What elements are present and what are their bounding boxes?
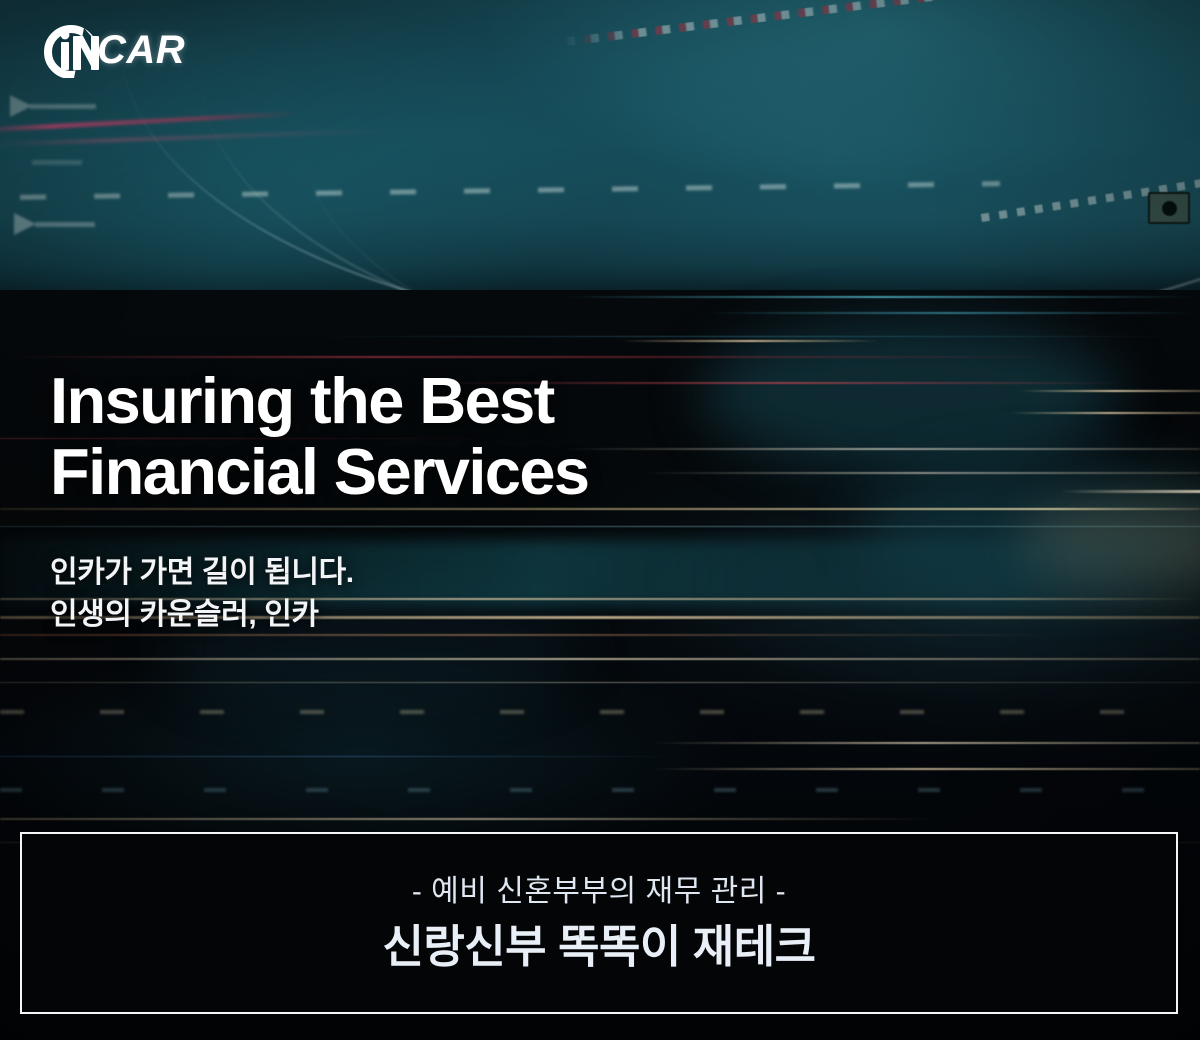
light-trail (0, 682, 1200, 683)
bottom-title-panel: - 예비 신혼부부의 재무 관리 - 신랑신부 똑똑이 재테크 (20, 832, 1178, 1014)
brand-logo[interactable]: CAR (44, 22, 185, 78)
light-trail (0, 818, 940, 820)
hero-title-line-2: Financial Services (50, 437, 880, 508)
light-trail (1010, 412, 1200, 414)
lane-dash-row (0, 710, 1200, 714)
lane-arrow-icon (14, 213, 36, 235)
poster-root: CAR Insuring the Best Financial Services… (0, 0, 1200, 1040)
light-trail (650, 768, 1200, 770)
lane-arrow-tail (30, 104, 96, 109)
hero-title-line-1: Insuring the Best (50, 366, 880, 437)
light-trail (1060, 490, 1200, 493)
light-trail (620, 340, 880, 342)
light-trail (650, 742, 1200, 744)
panel-eyebrow: - 예비 신혼부부의 재무 관리 - (412, 875, 786, 908)
lane-dash-row (0, 788, 1200, 792)
brand-logo-text: CAR (97, 30, 185, 70)
hero-title: Insuring the Best Financial Services (50, 366, 880, 508)
light-trail (0, 756, 700, 757)
light-trail (0, 658, 1200, 660)
hero-copy: Insuring the Best Financial Services 인카가… (50, 366, 880, 637)
roadside-signal-box-icon (1148, 192, 1190, 224)
panel-title: 신랑신부 똑똑이 재테크 (382, 922, 815, 972)
light-trail (0, 356, 1080, 358)
lane-arrow-tail (32, 160, 82, 165)
light-trail (560, 296, 1200, 298)
hero-subtitle-line-1: 인카가 가면 길이 됩니다. (50, 552, 880, 595)
lane-arrow-tail (35, 222, 95, 227)
hero-subtitle-line-2: 인생의 카운슬러, 인카 (50, 594, 880, 637)
light-trail (700, 312, 1200, 314)
lane-arrow-icon (10, 95, 32, 117)
hero-subtitle: 인카가 가면 길이 됩니다. 인생의 카운슬러, 인카 (50, 552, 880, 637)
light-trail (300, 336, 1200, 337)
light-trail (1020, 390, 1200, 392)
